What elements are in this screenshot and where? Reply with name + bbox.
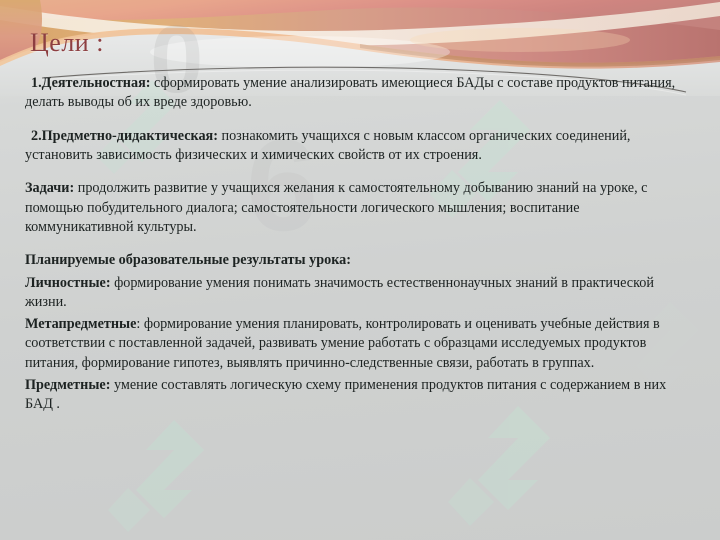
goal-item-1: 1.Деятельностная: сформировать умение ан… — [25, 74, 685, 113]
result-personal-text: формирование умения понимать значимость … — [25, 275, 654, 310]
result-metasubject-label: Метапредметные — [25, 316, 136, 332]
result-subject: Предметные: умение составлять логическую… — [25, 376, 685, 415]
goal-1-label: 1.Деятельностная: — [31, 75, 150, 91]
goal-item-2: 2.Предметно-дидактическая: познакомить у… — [25, 127, 685, 166]
tasks-paragraph: Задачи: продолжить развитие у учащихся ж… — [25, 179, 685, 237]
result-metasubject: Метапредметные: формирование умения план… — [25, 315, 685, 373]
page-title: Цели : — [30, 28, 104, 58]
result-subject-text: умение составлять логическую схему приме… — [25, 377, 666, 412]
presentation-slide: 0 6 Цели : 1.Деятельностная: сформироват… — [0, 0, 720, 540]
results-heading-label: Планируемые образовательные результаты у… — [25, 252, 351, 268]
results-heading: Планируемые образовательные результаты у… — [25, 251, 685, 270]
result-personal: Личностные: формирование умения понимать… — [25, 274, 685, 313]
result-subject-label: Предметные: — [25, 377, 110, 393]
slide-content: 1.Деятельностная: сформировать умение ан… — [25, 74, 685, 415]
result-personal-label: Личностные: — [25, 275, 111, 291]
tasks-label: Задачи: — [25, 180, 74, 196]
tasks-text: продолжить развитие у учащихся желания к… — [25, 180, 647, 235]
goal-2-label: 2.Предметно-дидактическая: — [31, 128, 218, 144]
